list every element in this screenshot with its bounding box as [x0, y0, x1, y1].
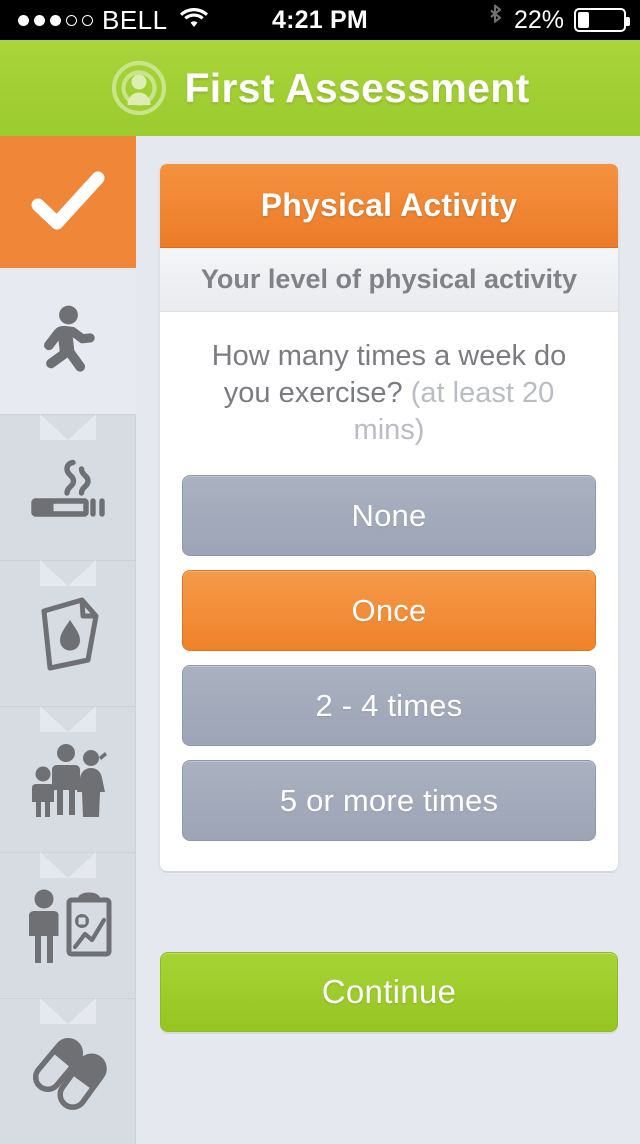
sidebar-item-smoking[interactable] [0, 414, 136, 560]
answer-options: None Once 2 - 4 times 5 or more times [182, 475, 596, 841]
status-bar-right: 22% [487, 4, 626, 36]
answer-option-five-or-more[interactable]: 5 or more times [182, 760, 596, 841]
answer-option-label: 2 - 4 times [316, 688, 463, 724]
sidebar-steps [0, 136, 140, 1136]
checkmark-icon [0, 136, 136, 268]
answer-option-label: None [352, 498, 427, 534]
page-title: First Assessment [184, 65, 529, 112]
app-header: First Assessment [0, 40, 640, 136]
answer-option-none[interactable]: None [182, 475, 596, 556]
sidebar-item-blood-test[interactable] [0, 560, 136, 706]
radar-person-logo-icon [110, 59, 168, 117]
person-clipboard-chart-icon [0, 853, 135, 998]
assessment-card: Physical Activity Your level of physical… [160, 164, 618, 871]
sidebar-item-medication[interactable] [0, 998, 136, 1144]
battery-percent-label: 22% [514, 6, 564, 35]
pills-capsules-icon [0, 999, 135, 1144]
running-person-icon [0, 268, 136, 414]
status-bar: BELL 4:21 PM 22% [0, 0, 640, 40]
continue-button-label: Continue [322, 973, 457, 1011]
card-body: How many times a week do you exercise? (… [160, 312, 618, 871]
sidebar-item-health-report[interactable] [0, 852, 136, 998]
answer-option-label: Once [352, 593, 427, 629]
card-title: Physical Activity [261, 187, 518, 224]
bluetooth-icon [487, 4, 504, 36]
card-subtitle: Your level of physical activity [201, 264, 577, 295]
answer-option-two-to-four[interactable]: 2 - 4 times [182, 665, 596, 746]
blood-drop-document-icon [0, 561, 135, 706]
card-subtitle-bar: Your level of physical activity [160, 248, 618, 312]
question-text: How many times a week do you exercise? (… [182, 338, 596, 457]
family-icon [0, 707, 135, 852]
continue-button[interactable]: Continue [160, 952, 618, 1032]
sidebar-item-physical-activity[interactable] [0, 268, 136, 414]
cigarette-icon [0, 415, 135, 560]
battery-icon [574, 8, 626, 32]
sidebar-item-completed[interactable] [0, 136, 136, 268]
card-header: Physical Activity [160, 164, 618, 248]
answer-option-label: 5 or more times [280, 783, 498, 819]
sidebar-item-family-history[interactable] [0, 706, 136, 852]
answer-option-once[interactable]: Once [182, 570, 596, 651]
